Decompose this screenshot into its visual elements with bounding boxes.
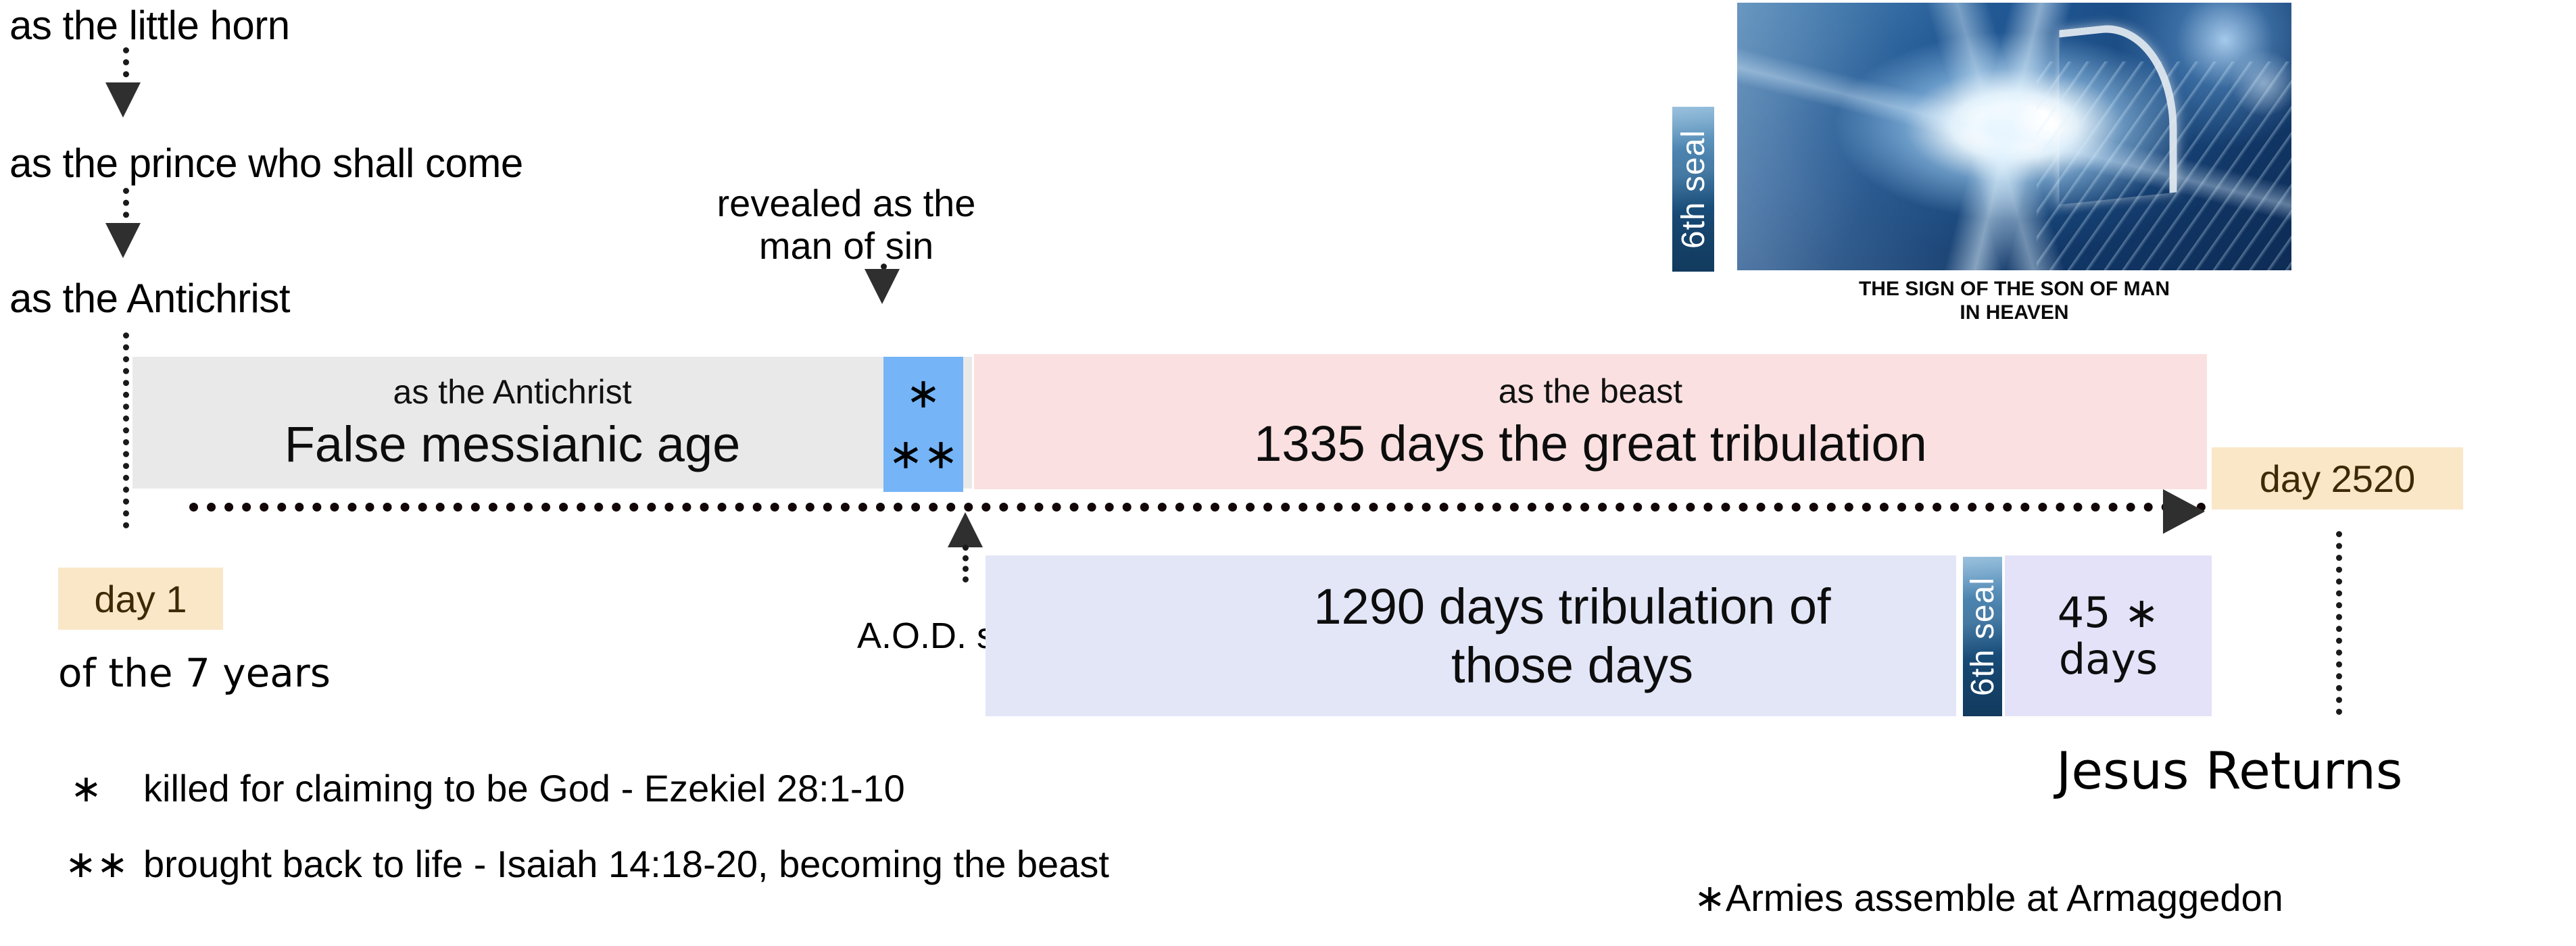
bar-segment-false-messianic-age-label: False messianic age (285, 416, 741, 473)
man-of-sin-marker-single-asterisk: ∗ (906, 373, 941, 415)
bar-segment-45-days: 45 ∗ days (2005, 555, 2212, 716)
aod-setup-arrow-up (948, 512, 983, 547)
footnote-marker-2: ∗∗ (65, 842, 128, 887)
bar-segment-beast-sublabel: as the beast (1499, 372, 1682, 411)
bar-segment-false-messianic-age: as the Antichrist False messianic age (132, 357, 972, 489)
chain-label-antichrist: as the Antichrist (9, 278, 290, 319)
sixth-seal-strip-top-label: 6th seal (1675, 130, 1712, 249)
badge-day-1: day 1 (58, 568, 223, 630)
prophecy-timeline-diagram: as the little horn as the prince who sha… (0, 0, 2576, 946)
chain-label-little-horn: as the little horn (9, 5, 290, 46)
bar-segment-1335-days-label: 1335 days the great tribulation (1254, 415, 1927, 472)
bar-segment-antichrist-sublabel: as the Antichrist (393, 372, 632, 412)
of-the-7-years-label: of the 7 years (58, 650, 331, 696)
bar-segment-great-tribulation: as the beast 1335 days the great tribula… (974, 354, 2207, 489)
sixth-seal-strip-timeline-label: 6th seal (1964, 577, 2001, 696)
aod-setup-connector-dots (963, 545, 969, 582)
chain-arrow-down-2 (105, 223, 141, 258)
footnote-marker-1: ∗ (70, 766, 102, 811)
man-of-sin-marker-double-asterisk: ∗∗ (888, 434, 958, 476)
sign-of-son-of-man-image (1737, 3, 2291, 270)
footnote-text-2: brought back to life - Isaiah 14:18-20, … (143, 842, 1109, 886)
chain-arrow-down-1 (105, 82, 141, 118)
jesus-returns-marker-line (2336, 531, 2342, 715)
bar-segment-man-of-sin: ∗ ∗∗ (883, 357, 963, 492)
sixth-seal-strip-top: 6th seal (1672, 107, 1714, 272)
armageddon-note: ∗Armies assemble at Armaggedon (1694, 876, 2283, 920)
bar-segment-1290-days: 1290 days tribulation of those days (986, 555, 1956, 716)
badge-day-2520: day 2520 (2212, 447, 2463, 509)
timeline-start-marker-line (123, 332, 129, 528)
footnote-text-1: killed for claiming to be God - Ezekiel … (143, 766, 905, 810)
bar-segment-45-days-label: 45 ∗ days (2058, 589, 2160, 683)
timeline-main-dotted-line (189, 503, 2206, 512)
chain-label-prince: as the prince who shall come (9, 143, 523, 184)
revealed-as-man-of-sin-label: revealed as the man of sin (657, 182, 1036, 267)
revealed-arrow-down (865, 269, 900, 304)
jesus-returns-label: Jesus Returns (2056, 741, 2402, 801)
heaven-image-caption: THE SIGN OF THE SON OF MAN IN HEAVEN (1737, 277, 2291, 325)
sixth-seal-strip-timeline: 6th seal (1963, 557, 2002, 716)
timeline-main-arrow-head (2163, 489, 2205, 534)
bar-segment-1290-days-label: 1290 days tribulation of those days (1111, 577, 1830, 695)
